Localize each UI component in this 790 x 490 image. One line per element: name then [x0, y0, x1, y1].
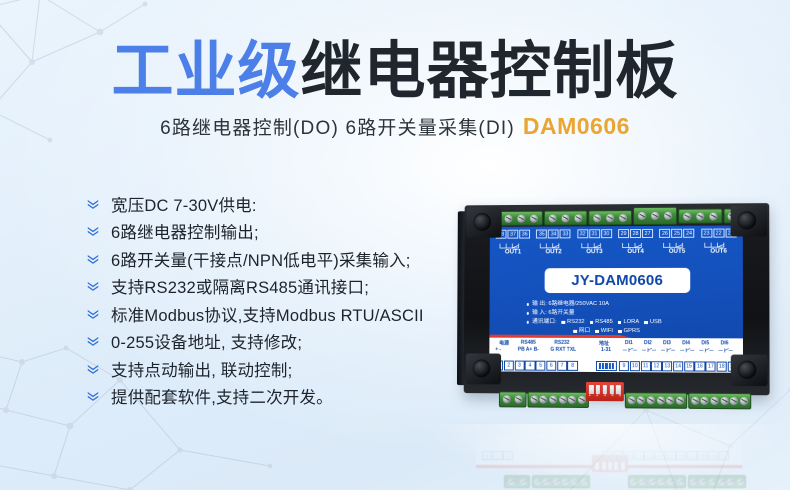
- pin-number: 9: [602, 451, 612, 460]
- terminal-bank-top-5: [678, 208, 722, 223]
- terminal-screw: [543, 478, 550, 485]
- spec-output: 输 出: 6路继电器/250VAC 10A: [527, 300, 739, 309]
- product-banner: 工业级继电器控制板 6路继电器控制(DO) 6路开关量采集(DI)DAM0606…: [0, 0, 790, 490]
- terminal-screw: [503, 395, 511, 403]
- di-label: DI3: [663, 340, 671, 346]
- reflection-dip-switch: [592, 455, 628, 472]
- pin-number: 15: [666, 451, 676, 460]
- list-item: 支持点动输出, 联动控制;: [84, 355, 444, 383]
- spec-key: 输 出:: [532, 300, 547, 309]
- power-label: 电源: [499, 340, 509, 347]
- pin-number: 14: [655, 451, 665, 460]
- rs485-label: RS485: [521, 340, 536, 346]
- dip-toggle: [614, 462, 618, 470]
- port-option: LORA: [623, 318, 639, 327]
- terminal-number: 31: [589, 229, 600, 238]
- feature-text: 支持点动输出, 联动控制;: [111, 357, 292, 381]
- terminal-pin-row-left: 1 2 3 4 5 6 7 8: [493, 360, 578, 370]
- dip-pin: [612, 363, 614, 369]
- terminal-screw: [730, 397, 738, 405]
- mounting-ear-bottom-right: [731, 355, 768, 387]
- list-item: 6路继电器控制输出;: [84, 218, 444, 246]
- mounting-hole: [473, 359, 491, 377]
- subtitle-row: 6路继电器控制(DO) 6路开关量采集(DI)DAM0606: [0, 113, 790, 140]
- page-title: 工业级继电器控制板: [0, 40, 790, 103]
- terminal-screw: [647, 396, 655, 404]
- dip-toggle: [602, 462, 606, 470]
- di-label: DI6: [721, 340, 729, 346]
- terminal-bank-top-3: [588, 210, 632, 225]
- output-group: 26 25 24 OUT5: [656, 229, 698, 255]
- list-item: 提供配套软件,支持二次开发。: [84, 383, 444, 411]
- pin-number: 14: [673, 361, 683, 371]
- output-terminal-map: 38 37 36 OUT1 35 34 33: [493, 228, 740, 255]
- terminal-bank-top-1: [500, 211, 543, 226]
- pin-number: 8: [503, 451, 513, 460]
- list-item: 宽压DC 7-30V供电:: [84, 190, 444, 218]
- double-chevron-down-icon: [84, 222, 102, 240]
- mounting-hole: [738, 361, 756, 379]
- title-highlight: 工业级: [111, 37, 300, 106]
- relay-contact-symbol: [533, 239, 574, 248]
- terminal-screw: [718, 478, 725, 485]
- port-option: RS232: [567, 318, 585, 327]
- reflection-terminal-bank: [628, 475, 686, 488]
- mounting-hole: [738, 211, 756, 229]
- pin-number: 5: [536, 361, 546, 371]
- checkbox-square-icon: [618, 330, 622, 334]
- mounting-ear-top-right: [731, 205, 768, 236]
- relay-contact-symbol: [493, 239, 534, 248]
- device-label: 38 37 36 OUT1 35 34 33: [489, 225, 743, 372]
- pin-number: 17: [687, 451, 697, 460]
- terminal-number: 25: [671, 229, 682, 238]
- rs232-pins: G RXT TXL: [550, 347, 576, 353]
- terminal-screw: [740, 397, 748, 405]
- checkbox-square-icon: [573, 330, 577, 334]
- rs232-label: RS232: [554, 340, 569, 346]
- terminal-screw: [520, 478, 527, 485]
- spec-ports-row1: 通讯端口: RS232 RS485 LORA USB: [527, 318, 739, 327]
- terminal-screw: [549, 396, 557, 404]
- rs485-pins: PB A+ B-: [518, 347, 539, 353]
- pin-number: 13: [644, 451, 654, 460]
- reflection-terminal-bank: [688, 475, 746, 488]
- model-name: DAM0606: [523, 113, 630, 139]
- pin-number: 6: [546, 361, 556, 371]
- dip-tick: 3: [604, 392, 606, 397]
- output-group: 35 34 33 OUT2: [533, 229, 574, 255]
- address-label: 地址: [599, 340, 609, 347]
- terminal-screw: [701, 397, 709, 405]
- terminal-bank-bottom-4: [688, 393, 751, 410]
- reflection-pin-row: 6 7 8: [482, 451, 513, 460]
- pin-number: 4: [525, 361, 535, 371]
- terminal-screw: [504, 214, 512, 222]
- double-chevron-down-icon: [84, 305, 102, 323]
- terminal-screw: [562, 214, 570, 222]
- terminal-screw: [606, 214, 614, 222]
- terminal-screw: [637, 396, 645, 404]
- terminal-screw: [571, 478, 578, 485]
- terminal-screw: [530, 396, 538, 404]
- terminal-screw: [683, 212, 691, 220]
- terminal-screw: [508, 478, 515, 485]
- pin-number: 10: [613, 451, 623, 460]
- terminal-screw: [699, 478, 706, 485]
- double-chevron-down-icon: [84, 250, 102, 268]
- address-range: 1-31: [601, 347, 611, 353]
- terminal-screw: [568, 396, 576, 404]
- bottom-terminal-legend: 电源 + - RS485 PB A+ B- RS232 G RXT TXL 地址…: [493, 340, 739, 359]
- terminal-number: 35: [536, 230, 547, 238]
- feature-text: 支持RS232或隔离RS485通讯接口;: [111, 274, 369, 298]
- dip-tick: 2: [596, 392, 598, 397]
- terminal-number: 34: [548, 229, 559, 237]
- relay-contact-symbol: [615, 238, 656, 247]
- di-input-symbols: [622, 347, 739, 353]
- terminal-screw: [664, 212, 672, 220]
- terminal-screw: [651, 212, 659, 220]
- mounting-ear-bottom-left: [466, 353, 501, 384]
- dip-tick: 4: [611, 392, 613, 397]
- pin-number: 9: [619, 361, 629, 371]
- terminal-number: 23: [701, 229, 712, 238]
- pin-number: 13: [662, 361, 672, 371]
- terminal-screw: [638, 212, 646, 220]
- model-plate-text: JY-DAM0606: [571, 272, 663, 289]
- title-rest: 继电器控制板: [301, 37, 679, 106]
- port-option: GPRS: [624, 327, 640, 336]
- dip-toggle: [595, 462, 599, 470]
- terminal-screw: [628, 396, 636, 404]
- terminal-screw: [530, 214, 538, 222]
- terminal-bank-top-2: [544, 210, 587, 225]
- list-item: 支持RS232或隔离RS485通讯接口;: [84, 273, 444, 301]
- model-plate: JY-DAM0606: [545, 268, 691, 293]
- port-option: RS485: [595, 318, 613, 327]
- pin-number: 18: [717, 362, 727, 372]
- terminal-number: 24: [684, 229, 695, 238]
- terminal-screw: [548, 214, 556, 222]
- pin-number: 16: [676, 451, 686, 460]
- feature-text: 6路开关量(干接点/NPN低电平)采集输入;: [111, 247, 411, 271]
- reflection-label: [476, 434, 742, 468]
- terminal-number: 33: [560, 229, 571, 237]
- feature-text: 提供配套软件,支持二次开发。: [111, 384, 333, 408]
- terminal-bank-bottom-1: [499, 391, 527, 407]
- terminal-screw: [517, 214, 525, 222]
- relay-control-board: 38 37 36 OUT1 35 34 33: [464, 195, 774, 405]
- relay-contact-symbol: [656, 238, 698, 247]
- spec-key: 输 入:: [532, 309, 547, 318]
- terminal-screw: [657, 396, 665, 404]
- terminal-screw: [709, 478, 716, 485]
- terminal-number: 30: [601, 229, 612, 238]
- feature-text: 0-255设备地址, 支持修改;: [111, 329, 302, 353]
- dip-switch-ticks: 1 2 3 4 5: [586, 392, 624, 397]
- bullet-dot-icon: [527, 312, 529, 314]
- terminal-screw: [630, 478, 637, 485]
- pin-number: 17: [706, 361, 716, 371]
- banner-header: 工业级继电器控制板 6路继电器控制(DO) 6路开关量采集(DI)DAM0606: [0, 40, 790, 140]
- power-pins: + -: [495, 347, 501, 353]
- double-chevron-down-icon: [84, 277, 102, 295]
- terminal-screw: [690, 478, 697, 485]
- mounting-ear-top-left: [466, 207, 501, 238]
- terminal-bank-bottom-2: [527, 392, 588, 408]
- pin-number: 18: [697, 451, 707, 460]
- terminal-screw: [737, 478, 744, 485]
- checkbox-square-icon: [595, 330, 599, 334]
- reflection-terminal-bank: [532, 475, 590, 488]
- subtitle-text: 6路继电器控制(DO) 6路开关量采集(DI): [160, 118, 515, 139]
- mounting-hole: [473, 213, 491, 231]
- bullet-dot-icon: [527, 321, 529, 323]
- bullet-dot-icon: [527, 303, 529, 305]
- pin-number: 3: [514, 361, 524, 371]
- pin-number: 11: [623, 451, 633, 460]
- pin-number: 15: [684, 361, 694, 371]
- pin-number: 12: [634, 451, 644, 460]
- output-group: 29 28 27 OUT4: [615, 229, 656, 255]
- terminal-screw: [710, 212, 718, 220]
- terminal-screw: [658, 478, 665, 485]
- spec-input: 输 入: 6路开关量: [527, 309, 739, 318]
- di-label: DI2: [644, 340, 652, 346]
- terminal-screw: [676, 397, 684, 405]
- feature-list: 宽压DC 7-30V供电: 6路继电器控制输出; 6路开关量(干接点/NPN低电…: [84, 190, 444, 410]
- di-label: DI5: [701, 340, 709, 346]
- dip-toggle: [608, 462, 612, 470]
- pin-number: 16: [695, 361, 705, 371]
- dip-tick: 1: [589, 392, 591, 397]
- terminal-bank-bottom-3: [625, 392, 687, 409]
- spec-value: 6路开关量: [548, 309, 574, 318]
- port-option: WIFI: [601, 327, 613, 336]
- double-chevron-down-icon: [84, 360, 102, 378]
- feature-text: 宽压DC 7-30V供电:: [111, 192, 257, 216]
- list-item: 0-255设备地址, 支持修改;: [84, 328, 444, 356]
- pin-number: 11: [640, 361, 650, 371]
- di-label: DI1: [625, 340, 633, 346]
- dip-toggle: [621, 462, 625, 470]
- checkbox-square-icon: [618, 321, 622, 325]
- pin-number: 6: [482, 451, 492, 460]
- terminal-screw: [559, 396, 567, 404]
- feature-text: 6路继电器控制输出;: [111, 219, 259, 243]
- dip-pin: [598, 363, 600, 369]
- terminal-screw: [553, 478, 560, 485]
- spec-value: 6路继电器/250VAC 10A: [548, 300, 609, 309]
- terminal-number: 28: [630, 229, 641, 238]
- dip-pin: [609, 363, 611, 369]
- terminal-pin-row-right: 9 10 11 12 13 14 15 16 17 18 19 20: [619, 361, 743, 372]
- spec-list: 输 出: 6路继电器/250VAC 10A 输 入: 6路开关量 通讯端口: R…: [527, 300, 739, 336]
- relay-contact-symbol: [574, 239, 615, 248]
- relay-contact-symbol: [698, 238, 740, 247]
- checkbox-square-icon: [590, 321, 594, 325]
- terminal-number: 37: [508, 230, 519, 238]
- pin-number: 20: [719, 451, 729, 460]
- output-group: 32 31 30 OUT3: [574, 229, 615, 255]
- terminal-number: 32: [577, 229, 588, 238]
- port-option: USB: [650, 318, 662, 327]
- checkbox-square-icon: [644, 321, 648, 325]
- dip-pin: [602, 363, 604, 369]
- terminal-screw: [639, 478, 646, 485]
- terminal-number: 29: [618, 229, 629, 238]
- terminal-screw: [649, 478, 656, 485]
- terminal-number: 26: [659, 229, 670, 238]
- terminal-screw: [677, 478, 684, 485]
- terminal-screw: [667, 478, 674, 485]
- di-label: DI4: [682, 340, 690, 346]
- double-chevron-down-icon: [84, 195, 102, 213]
- terminal-screw: [562, 478, 569, 485]
- pin-number: 19: [708, 451, 718, 460]
- feature-text: 标准Modbus协议,支持Modbus RTU/ASCII: [111, 302, 424, 326]
- terminal-bank-top-4: [633, 207, 677, 225]
- terminal-screw: [711, 397, 719, 405]
- checkbox-square-icon: [562, 321, 566, 325]
- pin-number: 2: [504, 361, 514, 371]
- terminal-screw: [727, 478, 734, 485]
- pin-number: 10: [630, 361, 640, 371]
- terminal-screw: [619, 214, 627, 222]
- terminal-screw: [691, 397, 699, 405]
- terminal-screw: [593, 214, 601, 222]
- spec-key: 通讯端口:: [532, 318, 557, 327]
- product-image: 38 37 36 OUT1 35 34 33: [452, 186, 790, 436]
- dip-tick: 5: [619, 392, 621, 397]
- terminal-screw: [720, 397, 728, 405]
- terminal-screw: [534, 478, 541, 485]
- terminal-screw: [581, 478, 588, 485]
- address-dip-indicator: [596, 361, 617, 371]
- pin-number: 8: [568, 361, 578, 371]
- double-chevron-down-icon: [84, 387, 102, 405]
- reflection-pin-row: 9 10 11 12 13 14 15 16 17 18 19 20: [602, 451, 729, 460]
- pin-number: 7: [557, 361, 567, 371]
- dip-pin: [605, 363, 607, 369]
- list-item: 标准Modbus协议,支持Modbus RTU/ASCII: [84, 300, 444, 328]
- terminal-number: 27: [642, 229, 653, 238]
- pin-number: 12: [651, 361, 661, 371]
- double-chevron-down-icon: [84, 332, 102, 350]
- terminal-screw: [666, 397, 674, 405]
- terminal-number: 36: [519, 230, 530, 238]
- reflection-terminal-bank: [504, 475, 530, 488]
- terminal-screw: [515, 395, 523, 403]
- list-item: 6路开关量(干接点/NPN低电平)采集输入;: [84, 245, 444, 273]
- terminal-number: 22: [713, 229, 724, 238]
- pin-number: 7: [493, 451, 503, 460]
- terminal-screw: [578, 396, 586, 404]
- terminal-screw: [575, 214, 583, 222]
- port-option: 网口: [579, 327, 591, 336]
- terminal-screw: [540, 396, 548, 404]
- terminal-screw: [696, 212, 704, 220]
